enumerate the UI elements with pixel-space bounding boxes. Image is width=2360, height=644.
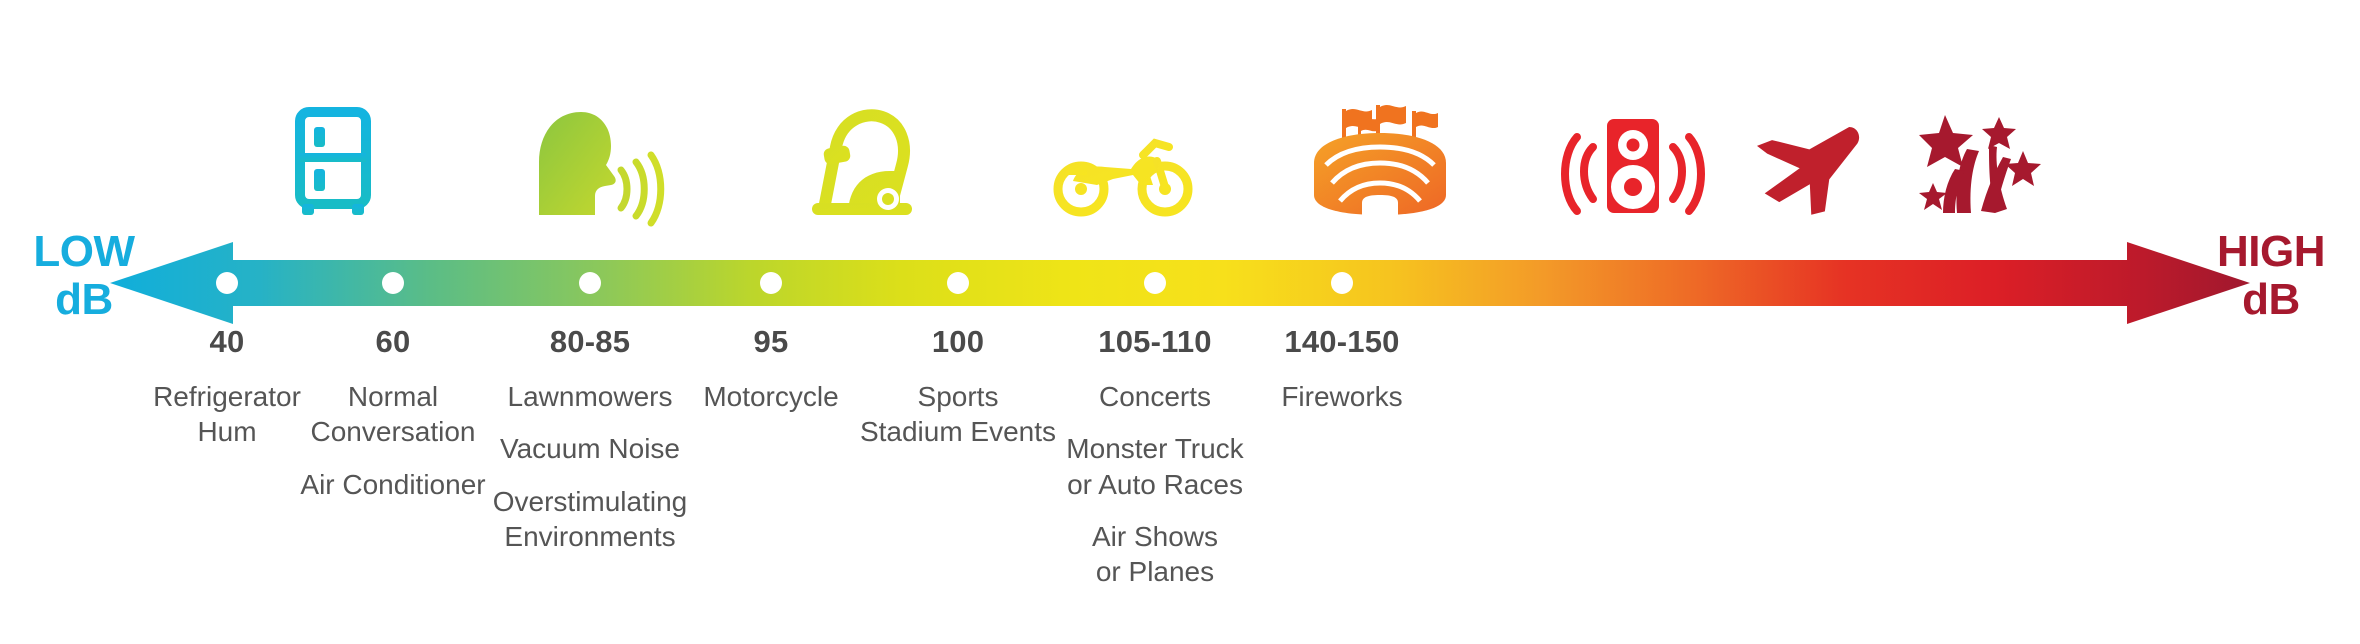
- high-db-label: HIGH dB: [2196, 228, 2346, 323]
- scale-marker-dot: [1144, 272, 1166, 294]
- scale-marker-dot: [382, 272, 404, 294]
- icon-slot-airplane: [1748, 95, 1878, 215]
- vacuum-cleaner-icon: [802, 107, 918, 215]
- motorcycle-icon: [1057, 129, 1189, 215]
- db-source-line: Environments: [455, 519, 725, 554]
- scale-marker-dot: [947, 272, 969, 294]
- scale-label-column: 140-150Fireworks: [1207, 326, 1477, 414]
- high-db-label-line1: HIGH: [2196, 228, 2346, 276]
- db-source-group: Monster Truckor Auto Races: [1020, 431, 1290, 502]
- low-db-label-line1: LOW: [22, 228, 146, 276]
- icon-slot-stadium: [1300, 95, 1460, 215]
- scale-marker-dot: [216, 272, 238, 294]
- low-db-label: LOW dB: [22, 228, 146, 323]
- icon-slot-refrigerator: [278, 95, 388, 215]
- airplane-icon: [1754, 121, 1872, 215]
- fireworks-icon: [1919, 111, 2041, 215]
- db-source-group: Fireworks: [1207, 379, 1477, 414]
- loudspeaker-icon: [1563, 111, 1703, 215]
- db-source-line: or Auto Races: [1020, 467, 1290, 502]
- high-db-label-line2: dB: [2196, 276, 2346, 324]
- scale-marker-dot: [760, 272, 782, 294]
- refrigerator-icon: [295, 107, 371, 215]
- db-source-line: Monster Truck: [1020, 431, 1290, 466]
- icon-slot-motorcycle: [1048, 95, 1198, 215]
- icon-slot-loudspeaker: [1558, 95, 1708, 215]
- low-db-label-line2: dB: [22, 276, 146, 324]
- db-value: 140-150: [1207, 326, 1477, 357]
- talking-head-icon: [537, 110, 659, 215]
- db-source-line: or Planes: [1020, 554, 1290, 589]
- decibel-scale-bar: [0, 238, 2360, 328]
- icon-slot-talking-head: [528, 95, 668, 215]
- icon-row: [0, 0, 2360, 215]
- scale-marker-dot: [579, 272, 601, 294]
- stadium-icon: [1306, 103, 1454, 215]
- db-source-line: Vacuum Noise: [455, 431, 725, 466]
- decibel-scale-infographic: LOW dB HIGH dB 40RefrigeratorHum60Normal…: [0, 0, 2360, 644]
- icon-slot-fireworks: [1910, 95, 2050, 215]
- db-source-line: Air Shows: [1020, 519, 1290, 554]
- scale-labels: 40RefrigeratorHum60NormalConversationAir…: [0, 326, 2360, 626]
- db-source-group: Vacuum Noise: [455, 431, 725, 466]
- db-source-line: Fireworks: [1207, 379, 1477, 414]
- icon-slot-vacuum: [790, 95, 930, 215]
- db-source-group: Air Showsor Planes: [1020, 519, 1290, 590]
- db-source-line: Overstimulating: [455, 484, 725, 519]
- scale-marker-dot: [1331, 272, 1353, 294]
- db-source-group: OverstimulatingEnvironments: [455, 484, 725, 555]
